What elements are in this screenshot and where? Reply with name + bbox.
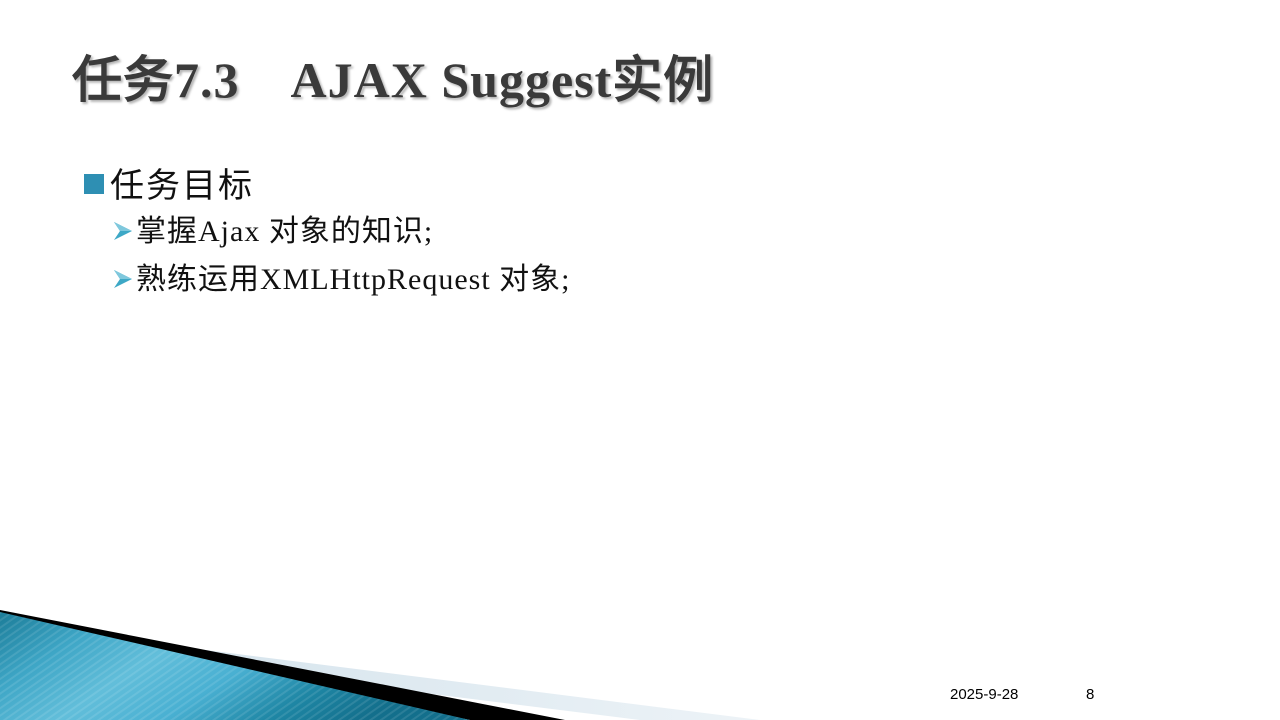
footer-date: 2025-9-28	[950, 686, 1018, 703]
list-item-level1: 任务目标	[84, 158, 1134, 207]
slide-number: 8	[1086, 686, 1094, 703]
arrow-bullet-icon	[112, 267, 134, 297]
sub-list: 掌握Ajax 对象的知识; 熟练运用XMLHttpRequest 对象;	[112, 213, 1134, 298]
list-item: 掌握Ajax 对象的知识;	[112, 213, 1134, 251]
slide-canvas: 任务7.3 AJAX Suggest实例 任务目标 掌握Ajax 对象的知识;	[0, 0, 1280, 720]
slide-body: 任务目标 掌握Ajax 对象的知识;	[84, 158, 1134, 308]
list-item-label: 掌握Ajax 对象的知识;	[136, 213, 433, 251]
list-item-level1-label: 任务目标	[110, 158, 254, 207]
arrow-bullet-icon	[112, 219, 134, 249]
list-item-label: 熟练运用XMLHttpRequest 对象;	[136, 261, 571, 299]
page-title: 任务7.3 AJAX Suggest实例	[72, 52, 714, 110]
square-bullet-icon	[84, 174, 104, 194]
list-item: 熟练运用XMLHttpRequest 对象;	[112, 261, 1134, 299]
